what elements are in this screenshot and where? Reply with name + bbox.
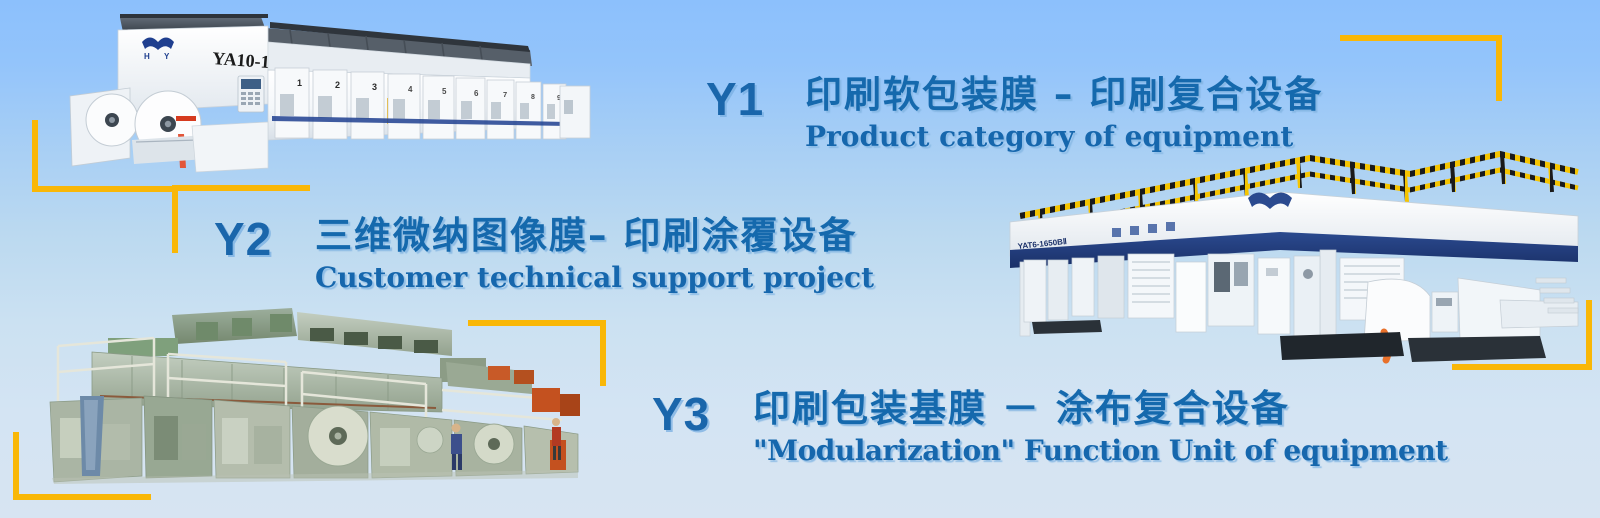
entry-text-y3: 印刷包装基膜 － 涂布复合设备 "Modularization" Functio… bbox=[753, 378, 1448, 467]
bracket-y2-top-horizontal bbox=[172, 185, 310, 191]
svg-text:3: 3 bbox=[372, 82, 377, 92]
coating-laminating-illustration: YAT6-1650BⅡ bbox=[980, 150, 1580, 365]
svg-text:6: 6 bbox=[474, 89, 479, 98]
entry-code-y3: Y3 bbox=[652, 387, 710, 441]
bracket-y3-right-vertical bbox=[600, 320, 606, 386]
bracket-y1-top-horizontal bbox=[1340, 35, 1502, 41]
base-film-coating-illustration bbox=[22, 300, 582, 485]
bracket-y2-left-vertical bbox=[172, 185, 178, 253]
svg-text:7: 7 bbox=[503, 90, 507, 99]
entry-title-cn-y2: 三维微纳图像膜– 印刷涂覆设备 bbox=[315, 205, 874, 259]
machine-base-film-coating-line bbox=[22, 300, 582, 485]
rotogravure-press-illustration: H Y YA10-1050CIIW 1 2 bbox=[60, 8, 600, 178]
svg-text:5: 5 bbox=[442, 87, 447, 96]
entry-code-y1: Y1 bbox=[706, 72, 764, 126]
entry-title-en-y1: Product category of equipment bbox=[805, 120, 1323, 153]
svg-text:H: H bbox=[144, 52, 150, 61]
entry-title-en-y2: Customer technical support project bbox=[315, 261, 874, 294]
svg-text:4: 4 bbox=[408, 85, 413, 94]
entry-title-cn-y3: 印刷包装基膜 － 涂布复合设备 bbox=[753, 378, 1448, 432]
svg-text:8: 8 bbox=[531, 94, 535, 101]
promo-banner: H Y YA10-1050CIIW 1 2 bbox=[0, 0, 1600, 518]
svg-text:2: 2 bbox=[335, 80, 340, 90]
svg-text:Y: Y bbox=[164, 52, 170, 61]
bracket-y1-bottom-horizontal bbox=[32, 186, 172, 192]
entry-text-y1: 印刷软包装膜 – 印刷复合设备 Product category of equi… bbox=[805, 64, 1323, 153]
svg-text:1: 1 bbox=[297, 78, 302, 88]
entry-text-y2: 三维微纳图像膜– 印刷涂覆设备 Customer technical suppo… bbox=[315, 205, 874, 294]
bracket-y3-bottom-horizontal bbox=[13, 494, 151, 500]
entry-title-en-y3: "Modularization" Function Unit of equipm… bbox=[753, 434, 1448, 467]
bracket-y2-right-vertical bbox=[1586, 300, 1592, 370]
machine-rotogravure-press: H Y YA10-1050CIIW 1 2 bbox=[60, 8, 600, 178]
bracket-y1-right-vertical bbox=[1496, 35, 1502, 101]
machine-coating-laminating-line: YAT6-1650BⅡ bbox=[980, 150, 1580, 365]
bracket-y3-left-vertical bbox=[13, 432, 19, 500]
entry-code-y2: Y2 bbox=[214, 212, 272, 266]
entry-title-cn-y1: 印刷软包装膜 – 印刷复合设备 bbox=[805, 64, 1323, 118]
bracket-y1-left-vertical bbox=[32, 120, 38, 192]
